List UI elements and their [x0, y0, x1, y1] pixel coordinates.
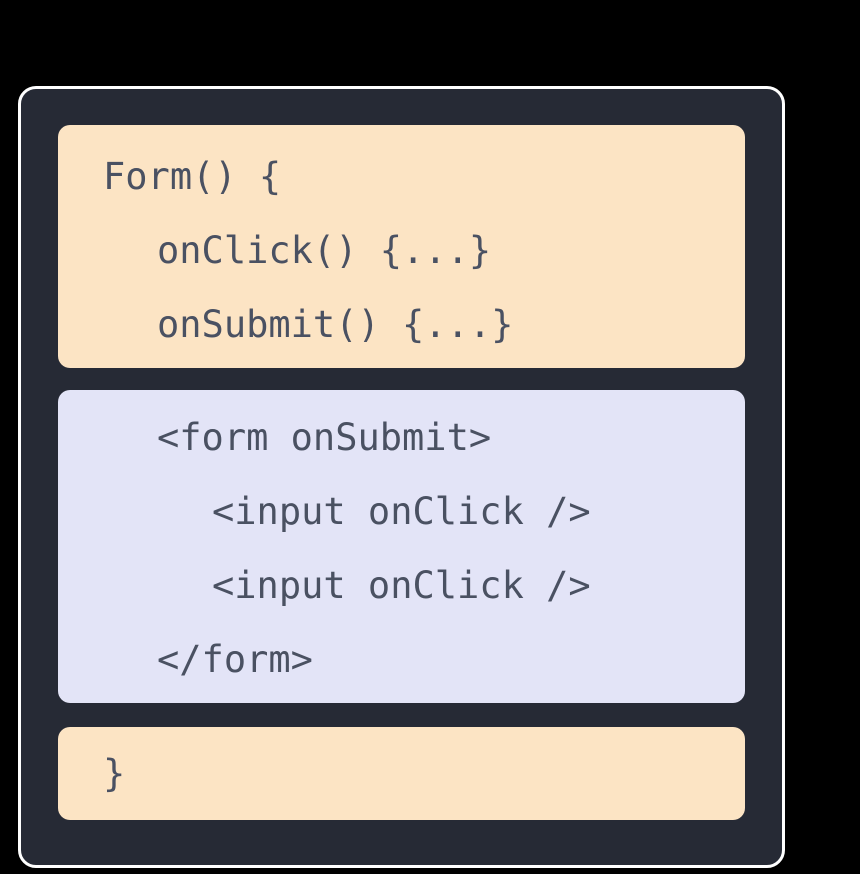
diagram-canvas: Form() { onClick() {...} onSubmit() {...… — [0, 0, 860, 874]
code-block-closing-brace: } — [58, 727, 745, 820]
code-line: <input onClick /> — [212, 567, 591, 604]
code-block-component-signature: Form() { onClick() {...} onSubmit() {...… — [58, 125, 745, 368]
code-block-jsx-markup: <form onSubmit> <input onClick /> <input… — [58, 390, 745, 703]
code-line: <input onClick /> — [212, 493, 591, 530]
code-card-container: Form() { onClick() {...} onSubmit() {...… — [18, 86, 785, 868]
code-line: } — [103, 755, 125, 792]
code-line: <form onSubmit> — [157, 419, 491, 456]
code-line: Form() { — [103, 158, 281, 195]
code-line: onSubmit() {...} — [157, 306, 513, 343]
code-line: onClick() {...} — [157, 232, 491, 269]
code-line: </form> — [157, 641, 313, 678]
